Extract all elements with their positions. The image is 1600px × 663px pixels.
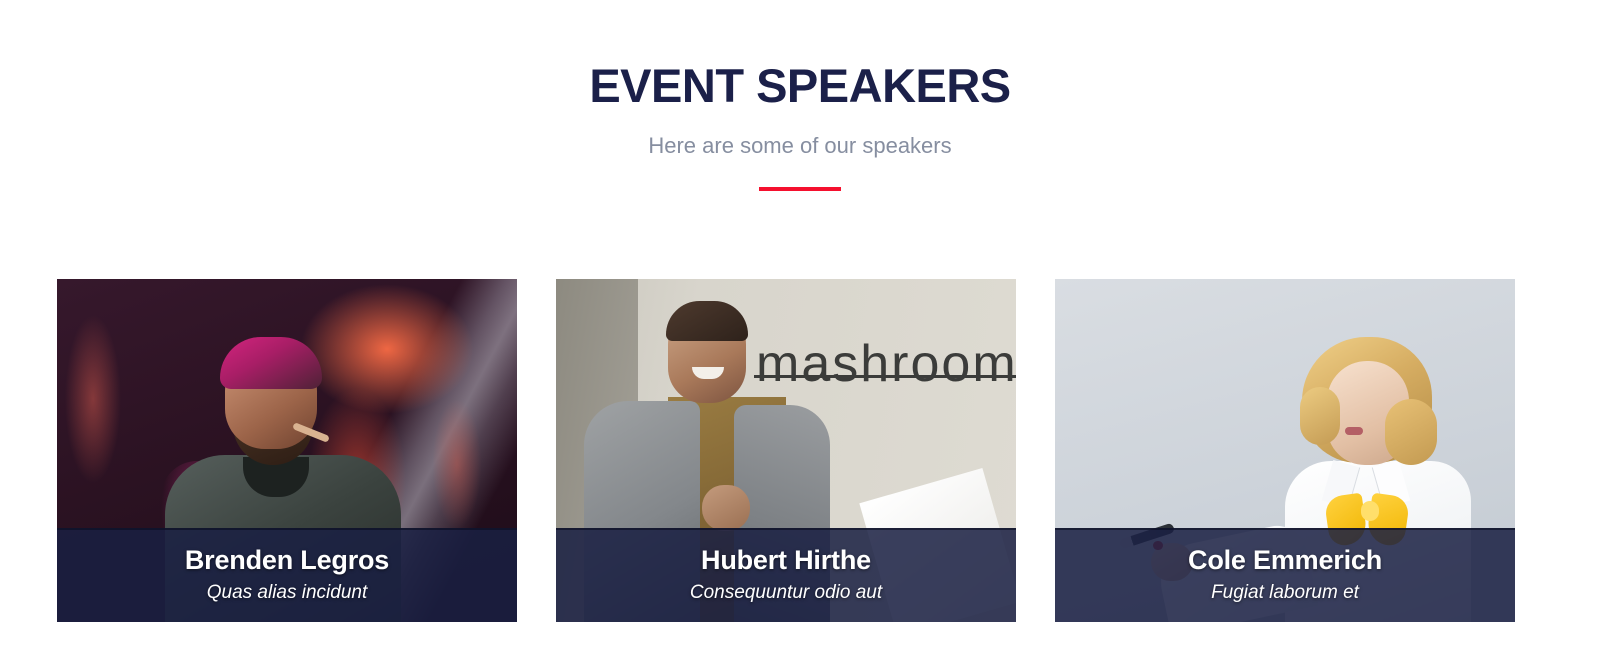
- speaker-name: Brenden Legros: [185, 545, 389, 577]
- section-header: EVENT SPEAKERS Here are some of our spea…: [0, 0, 1600, 191]
- wall-signage-underline: [754, 375, 1016, 378]
- red-divider-bar: [759, 187, 841, 191]
- speaker-hair: [220, 337, 322, 389]
- speaker-card-grid: Brenden Legros Quas alias incidunt mashr…: [57, 279, 1544, 622]
- page-title: EVENT SPEAKERS: [0, 62, 1600, 109]
- speaker-card-hubert-hirthe[interactable]: mashroom.c Hubert Hirthe Consequuntur od…: [556, 279, 1016, 622]
- speaker-name: Cole Emmerich: [1188, 545, 1382, 577]
- speaker-caption: Hubert Hirthe Consequuntur odio aut: [556, 528, 1016, 622]
- wall-signage-text: mashroom.c: [756, 334, 1016, 394]
- section-subtitle: Here are some of our speakers: [0, 135, 1600, 157]
- speaker-hair: [666, 301, 748, 341]
- bow-tie-knot: [1361, 501, 1379, 521]
- hair-curl-right: [1385, 399, 1437, 465]
- speaker-card-brenden-legros[interactable]: Brenden Legros Quas alias incidunt: [57, 279, 517, 622]
- divider-wrapper: [0, 187, 1600, 191]
- speaker-hand: [702, 485, 750, 531]
- speaker-caption: Cole Emmerich Fugiat laborum et: [1055, 528, 1515, 622]
- speaker-card-cole-emmerich[interactable]: Cole Emmerich Fugiat laborum et: [1055, 279, 1515, 622]
- speaker-role: Quas alias incidunt: [207, 582, 368, 605]
- speaker-lips: [1345, 427, 1363, 435]
- speaker-role: Consequuntur odio aut: [690, 582, 882, 605]
- speaker-role: Fugiat laborum et: [1211, 582, 1359, 605]
- speaker-caption: Brenden Legros Quas alias incidunt: [57, 528, 517, 622]
- speaker-name: Hubert Hirthe: [701, 545, 871, 577]
- hair-curl-left: [1300, 387, 1340, 445]
